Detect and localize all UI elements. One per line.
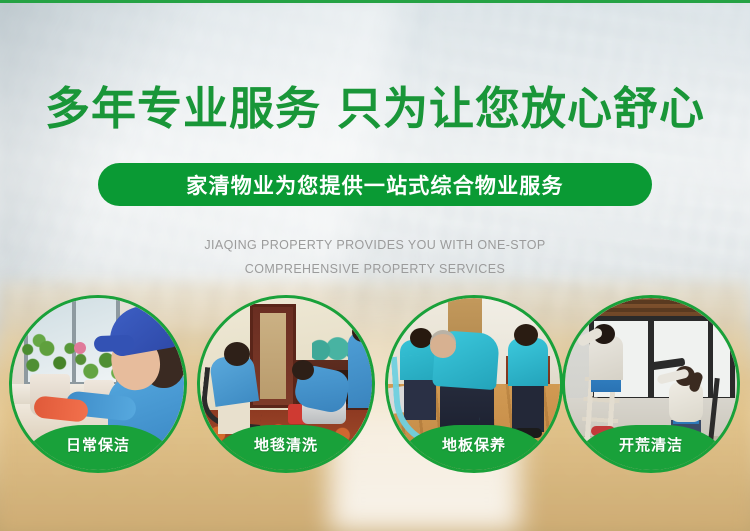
- headline-part-2: 只为让您放心舒心: [337, 82, 705, 135]
- promo-banner: 多年专业服务只为让您放心舒心 家清物业为您提供一站式综合物业服务 JIAQING…: [0, 0, 750, 531]
- headline: 多年专业服务只为让您放心舒心: [0, 82, 750, 136]
- english-subtitle-line-2: COMPREHENSIVE PROPERTY SERVICES: [0, 257, 750, 281]
- service-label-text: 日常保洁: [66, 434, 130, 455]
- tagline-pill: 家清物业为您提供一站式综合物业服务: [98, 163, 652, 206]
- tagline-text: 家清物业为您提供一站式综合物业服务: [186, 170, 563, 200]
- service-circle-post-renovation-cleaning[interactable]: 开荒清洁: [562, 295, 740, 473]
- english-subtitle: JIAQING PROPERTY PROVIDES YOU WITH ONE-S…: [0, 233, 750, 281]
- service-label-text: 地板保养: [442, 434, 506, 455]
- service-circle-row: 日常保洁 地毯清洗: [0, 295, 750, 485]
- top-accent-rule: [0, 0, 750, 3]
- service-label-text: 开荒清洁: [619, 434, 683, 455]
- service-circle-floor-care[interactable]: 地板保养: [385, 295, 563, 473]
- service-circle-daily-cleaning[interactable]: 日常保洁: [9, 295, 187, 473]
- service-label-text: 地毯清洗: [254, 434, 318, 455]
- english-subtitle-line-1: JIAQING PROPERTY PROVIDES YOU WITH ONE-S…: [0, 233, 750, 257]
- headline-part-1: 多年专业服务: [45, 82, 321, 135]
- service-circle-carpet-cleaning[interactable]: 地毯清洗: [197, 295, 375, 473]
